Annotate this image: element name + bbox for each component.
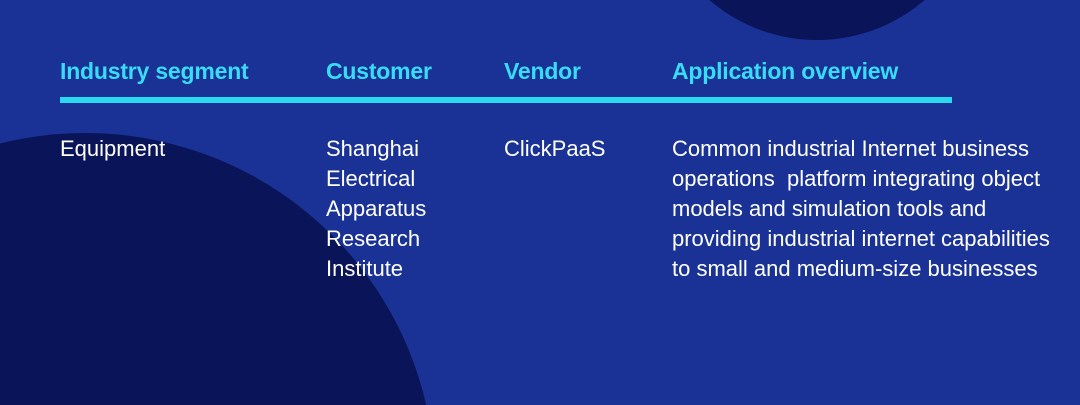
column-header-vendor: Vendor — [504, 58, 581, 85]
slide-canvas: Industry segment Customer Vendor Applica… — [0, 0, 1080, 405]
column-header-customer: Customer — [326, 58, 432, 85]
column-header-industry-segment: Industry segment — [60, 58, 249, 85]
cell-customer: Shanghai Electrical Apparatus Research I… — [326, 134, 486, 284]
column-header-application-overview: Application overview — [672, 58, 898, 85]
comparison-table: Industry segment Customer Vendor Applica… — [0, 0, 1080, 405]
table-header-row: Industry segment Customer Vendor Applica… — [60, 58, 980, 92]
header-underline-rule — [60, 97, 952, 103]
cell-application-overview: Common industrial Internet business oper… — [672, 134, 1052, 284]
cell-industry-segment: Equipment — [60, 134, 310, 164]
